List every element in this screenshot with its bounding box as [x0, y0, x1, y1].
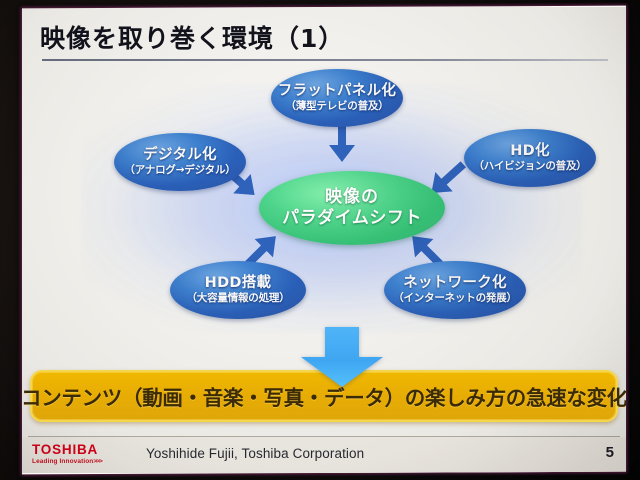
toshiba-logo-tagline: Leading Innovation>>>	[32, 459, 136, 466]
node-label-secondary: （インターネットの発展）	[393, 293, 517, 305]
node-label-secondary: （アナログ→デジタル）	[124, 165, 235, 177]
node-label-primary: ネットワーク化	[403, 275, 507, 291]
down-arrow-icon	[297, 327, 387, 389]
center-label-line1: 映像の	[325, 188, 379, 207]
diagram-node-hd[interactable]: HD化 （ハイビジョンの普及）	[464, 129, 596, 187]
page-title: 映像を取り巻く環境（1）	[40, 19, 344, 55]
node-label-primary: HD化	[510, 143, 550, 159]
diagram-node-digital[interactable]: デジタル化 （アナログ→デジタル）	[114, 133, 246, 191]
toshiba-logo-wordmark: TOSHIBA	[32, 443, 136, 457]
node-label-secondary: （大容量情報の処理）	[187, 293, 290, 305]
diagram-node-center-paradigm-shift[interactable]: 映像の パラダイムシフト	[259, 171, 445, 245]
slide-footer: TOSHIBA Leading Innovation>>> Yoshihide …	[22, 437, 626, 473]
chevrons-icon: >>>	[93, 458, 101, 465]
diagram-node-network[interactable]: ネットワーク化 （インターネットの発展）	[384, 261, 526, 319]
diagram-node-flat-panel[interactable]: フラットパネル化 （薄型テレビの普及）	[271, 69, 403, 127]
toshiba-logo: TOSHIBA Leading Innovation>>>	[32, 443, 136, 465]
node-label-primary: HDD搭載	[205, 275, 272, 291]
presentation-slide: 映像を取り巻く環境（1） フラットパネル化 （薄型テレビの普及） デジタル化 （…	[22, 6, 626, 475]
author-credit: Yoshihide Fujii, Toshiba Corporation	[146, 446, 364, 461]
toshiba-tagline-text: Leading Innovation	[32, 458, 93, 465]
diagram-node-hdd[interactable]: HDD搭載 （大容量情報の処理）	[170, 261, 306, 319]
node-label-primary: フラットパネル化	[278, 83, 396, 99]
center-label-line2: パラダイムシフト	[282, 209, 422, 228]
title-underline-rule	[42, 59, 608, 61]
page-number: 5	[606, 444, 614, 461]
node-label-secondary: （ハイビジョンの普及）	[473, 161, 586, 173]
node-label-secondary: （薄型テレビの普及）	[286, 101, 389, 113]
node-label-primary: デジタル化	[143, 147, 217, 163]
